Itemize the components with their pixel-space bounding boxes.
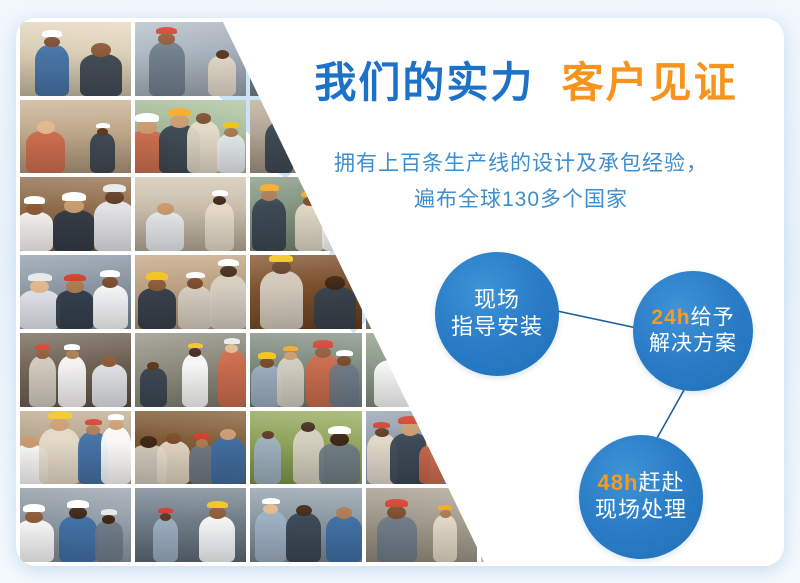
bubble-3-line-2: 现场处理	[595, 497, 687, 524]
bubble-1-line-2: 指导安装	[451, 314, 543, 341]
bubble-1-line-1: 现场	[474, 287, 520, 314]
bubble-2-highlight: 24h	[651, 306, 690, 329]
bubble-2-line-1: 24h给予	[651, 305, 734, 331]
bubble-3-highlight: 48h	[598, 470, 639, 495]
bubble-2-line-1-rest: 给予	[691, 306, 735, 329]
bubble-3-line-1-rest: 赶赴	[638, 470, 684, 495]
bubble-24h-solution[interactable]: 24h给予 解决方案	[633, 271, 753, 391]
connector-2-3	[656, 390, 684, 440]
promo-banner: 我们的实力 客户见证 拥有上百条生产线的设计及承包经验， 遍布全球130多个国家…	[0, 0, 800, 583]
bubble-onsite-guidance[interactable]: 现场 指导安装	[435, 252, 559, 376]
bubble-2-line-2: 解决方案	[649, 331, 737, 357]
bubble-3-line-1: 48h赶赴	[598, 470, 685, 497]
content-card: 我们的实力 客户见证 拥有上百条生产线的设计及承包经验， 遍布全球130多个国家…	[16, 18, 784, 566]
bubble-48h-onsite[interactable]: 48h赶赴 现场处理	[579, 435, 703, 559]
